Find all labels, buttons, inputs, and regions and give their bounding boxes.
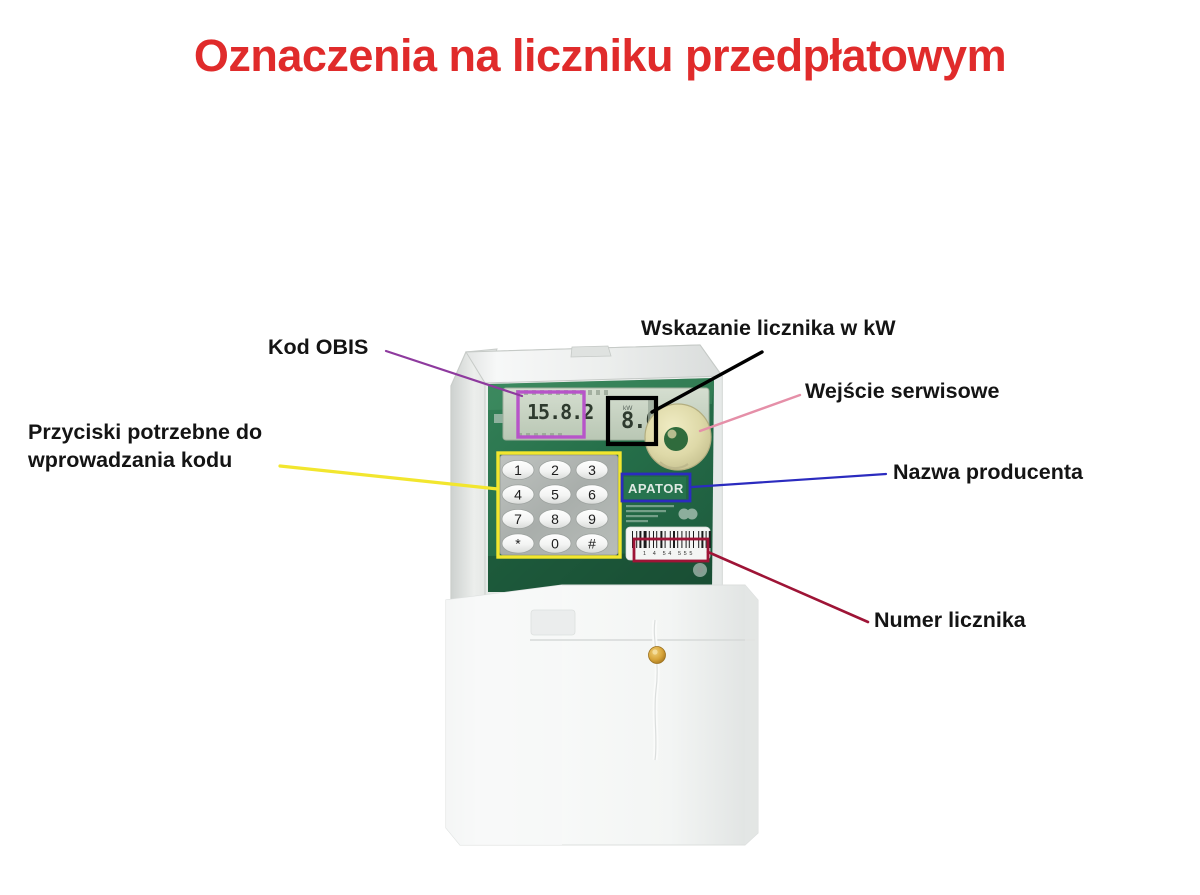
slide-canvas: Oznaczenia na liczniku przedpłatowym: [0, 0, 1200, 895]
keypad-key-label: 2: [551, 462, 559, 478]
manufacturer-name-text: APATOR: [628, 481, 684, 496]
meter-terminal-cover: [446, 585, 758, 845]
serial-number-digits: 1 4 54 555: [643, 551, 695, 557]
serial-number-barcode: 1 4 54 555: [626, 527, 711, 560]
keypad-key-label: 4: [514, 487, 522, 503]
keypad-key-label: 7: [514, 511, 522, 527]
keypad-key-label: 3: [588, 462, 596, 478]
callout-label-serwis: Wejście serwisowe: [805, 378, 999, 406]
keypad-key-label: 6: [588, 487, 596, 503]
callout-label-przyciski: Przyciski potrzebne do wprowadzania kodu: [28, 419, 262, 475]
keypad-key-label: 9: [588, 511, 596, 527]
callout-label-numer: Numer licznika: [874, 607, 1026, 635]
keypad-key-label: 5: [551, 487, 559, 503]
meter-device: 15.8.2 8.0 kW 123456789*0# APA: [446, 345, 758, 845]
keypad[interactable]: 123456789*0#: [500, 455, 618, 555]
callout-label-kw: Wskazanie licznika w kW: [641, 315, 896, 343]
keypad-key-label: #: [588, 536, 596, 552]
keypad-key-label: 1: [514, 462, 522, 478]
keypad-key-label: 8: [551, 511, 559, 527]
callout-label-obis: Kod OBIS: [268, 334, 368, 362]
callout-label-producent: Nazwa producenta: [893, 459, 1083, 487]
security-seal: [649, 647, 666, 664]
keypad-key-label: *: [515, 536, 521, 552]
lcd-unit-label: kW: [623, 405, 633, 412]
keypad-key-label: 0: [551, 536, 559, 552]
